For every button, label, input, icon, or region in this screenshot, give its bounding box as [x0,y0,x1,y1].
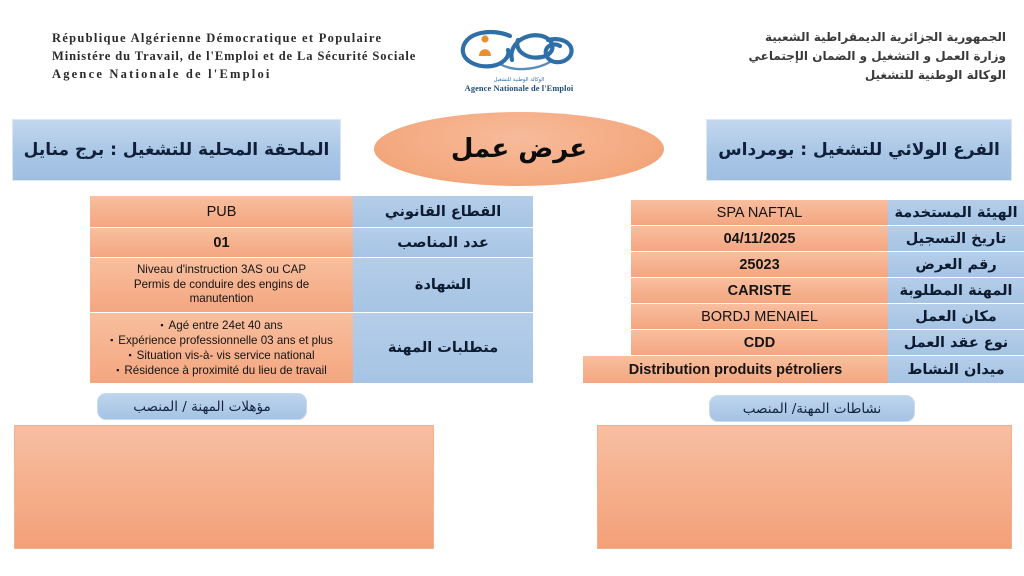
diploma-line-2: Permis de conduire des engins de [134,278,309,293]
table-row: مكان العمل BORDJ MENAIEL [631,304,1024,330]
row-label-registration-date: تاريخ التسجيل [888,226,1024,252]
table-row: تاريخ التسجيل 04/11/2025 [631,226,1024,252]
header-french-line-1: République Algérienne Démocratique et Po… [52,29,452,47]
row-value-activity-field: Distribution produits pétroliers [583,356,888,384]
logo-french-caption: Agence Nationale de l'Emploi [452,84,586,93]
table-row: عدد المناصب 01 [90,228,533,258]
row-label-required-occupation: المهنة المطلوبة [888,278,1024,304]
logo-arabic-caption: الوكالة الوطنية للتشغيل [452,77,586,83]
row-value-job-requirements: Agé entre 24et 40 ans Expérience profess… [90,313,353,384]
row-value-contract-type: CDD [631,330,888,356]
row-value-diploma: Niveau d'instruction 3AS ou CAP Permis d… [90,258,353,313]
table-row: الشهادة Niveau d'instruction 3AS ou CAP … [90,258,533,313]
activities-content-box [597,425,1012,549]
label-job-activities: نشاطات المهنة/ المنصب [709,395,915,422]
list-item: Agé entre 24et 40 ans [94,318,349,333]
header-arabic-line-1: الجمهورية الجزائرية الديمقراطية الشعبية [606,28,1006,47]
header-french-line-2: Ministére du Travail, de l'Emploi et de … [52,47,452,65]
table-row: رقم العرض 25023 [631,252,1024,278]
row-label-number-of-posts: عدد المناصب [353,228,533,258]
table-row: المهنة المطلوبة CARISTE [631,278,1024,304]
row-label-diploma: الشهادة [353,258,533,313]
table-row: القطاع القانوني PUB [90,196,533,228]
row-value-required-occupation: CARISTE [631,278,888,304]
logo-person-body [479,49,491,56]
row-label-employer: الهيئة المستخدمة [888,200,1024,226]
header-french-line-3: Agence Nationale de l'Emploi [52,65,452,83]
label-job-qualifications: مؤهلات المهنة / المنصب [97,393,307,420]
row-label-offer-number: رقم العرض [888,252,1024,278]
page-title-oval: عرض عمل [374,112,664,186]
banner-regional-agency: الفرع الولائي للتشغيل : بومرداس [706,119,1012,181]
row-value-offer-number: 25023 [631,252,888,278]
diploma-line-3: manutention [134,292,309,307]
job-conditions-table: القطاع القانوني PUB عدد المناصب 01 الشها… [90,196,533,384]
row-label-activity-field: ميدان النشاط [888,356,1024,384]
row-label-workplace: مكان العمل [888,304,1024,330]
list-item: Expérience professionnelle 03 ans et plu… [94,333,349,348]
requirements-list: Agé entre 24et 40 ans Expérience profess… [90,318,353,378]
banner-local-agency: الملحقة المحلية للتشغيل : برج منايل [12,119,341,181]
row-value-legal-sector: PUB [90,196,353,228]
qualifications-content-box [14,425,434,549]
row-value-employer: SPA NAFTAL [631,200,888,226]
anem-logo-mark [452,26,586,76]
header-arabic-block: الجمهورية الجزائرية الديمقراطية الشعبية … [606,28,1006,85]
row-value-registration-date: 04/11/2025 [631,226,888,252]
list-item: Situation vis-à- vis service national [94,348,349,363]
table-row: الهيئة المستخدمة SPA NAFTAL [631,200,1024,226]
table-row: نوع عقد العمل CDD [631,330,1024,356]
logo-person-head [481,35,488,42]
header-arabic-line-2: وزارة العمل و التشغيل و الضمان الإجتماعي [606,47,1006,66]
row-label-job-requirements: متطلبات المهنة [353,313,533,384]
header-arabic-line-3: الوكالة الوطنية للتشغيل [606,66,1006,85]
diploma-line-1: Niveau d'instruction 3AS ou CAP [134,263,309,278]
list-item: Résidence à proximité du lieu de travail [94,363,349,378]
row-label-contract-type: نوع عقد العمل [888,330,1024,356]
anem-logo: الوكالة الوطنية للتشغيل Agence Nationale… [452,26,586,98]
header-french-block: République Algérienne Démocratique et Po… [52,29,452,83]
row-value-number-of-posts: 01 [90,228,353,258]
table-row: ميدان النشاط Distribution produits pétro… [583,356,1024,384]
job-offer-details-table: الهيئة المستخدمة SPA NAFTAL تاريخ التسجي… [583,200,1024,384]
row-value-workplace: BORDJ MENAIEL [631,304,888,330]
table-row: متطلبات المهنة Agé entre 24et 40 ans Exp… [90,313,533,384]
row-label-legal-sector: القطاع القانوني [353,196,533,228]
